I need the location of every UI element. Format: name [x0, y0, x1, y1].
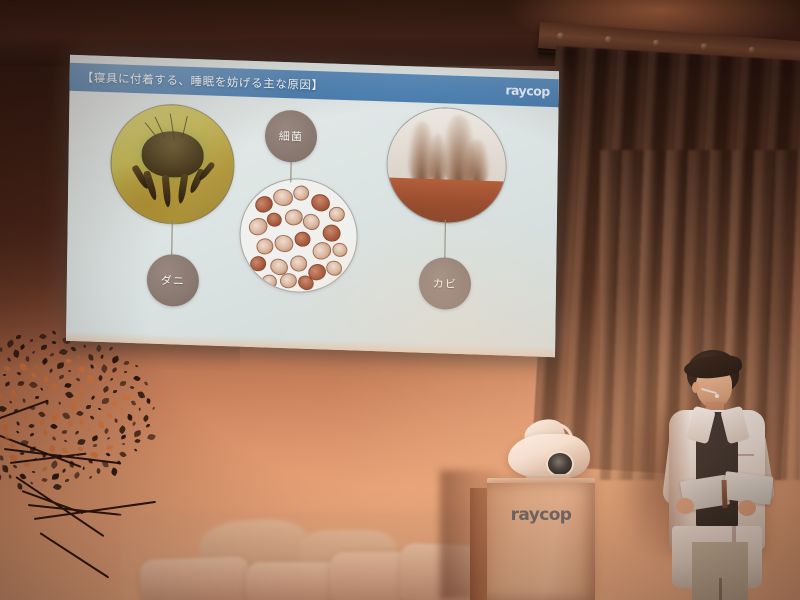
- plant-leaf: [74, 430, 79, 434]
- bacteria-cell: [272, 188, 294, 208]
- plant-leaf: [86, 404, 91, 408]
- plant-leaf: [12, 350, 20, 359]
- plant-leaf: [25, 356, 31, 362]
- plant-leaf: [123, 371, 126, 374]
- plant-leaf: [35, 364, 38, 368]
- plant-leaf: [77, 438, 85, 445]
- plant-leaf: [65, 479, 69, 482]
- plant-leaf: [90, 395, 95, 400]
- plant-leaf: [76, 377, 81, 382]
- plant-leaf: [9, 389, 18, 398]
- bacteria-cell: [294, 231, 311, 247]
- plant-leaf: [69, 402, 78, 410]
- presenter-hand-right: [738, 500, 756, 516]
- plant-branch: [39, 532, 109, 578]
- plant-leaf: [64, 439, 68, 443]
- plant-leaf: [17, 380, 24, 386]
- plant-leaf: [77, 355, 81, 359]
- pillow: [139, 556, 250, 600]
- raycop-logo-podium: raycop: [487, 505, 595, 525]
- plant-leaf: [147, 433, 156, 441]
- plant-leaf: [53, 483, 62, 492]
- plant-leaf: [0, 405, 7, 414]
- plant-leaf: [135, 439, 141, 445]
- plant-leaf: [42, 467, 47, 471]
- plant-leaf: [24, 461, 32, 468]
- raycop-logo-slide: raycop: [505, 82, 550, 98]
- plant-leaf: [0, 474, 3, 483]
- plant-leaf: [20, 472, 27, 480]
- plant-leaf: [50, 353, 54, 356]
- plant-leaf: [30, 433, 34, 437]
- plant-leaf: [68, 369, 72, 372]
- plant-leaf: [99, 421, 106, 429]
- bacteria-cell: [291, 184, 310, 202]
- plant-leaf: [48, 368, 53, 373]
- plant-leaf: [61, 468, 66, 473]
- plant-leaf: [52, 330, 57, 335]
- plant-leaf: [77, 395, 84, 403]
- plant-leaf: [17, 371, 22, 376]
- plant-leaf: [144, 381, 148, 386]
- plant-leaf: [51, 414, 60, 422]
- mite-hair: [145, 122, 157, 137]
- plant-leaf: [110, 467, 118, 476]
- plant-leaf: [118, 425, 127, 434]
- plant-leaf: [124, 360, 130, 365]
- bacteria-cell: [309, 239, 334, 263]
- plant-leaf: [50, 460, 59, 469]
- plant-leaf: [28, 423, 34, 429]
- plant-leaf: [56, 363, 64, 369]
- plant-leaf: [13, 464, 18, 469]
- plant-leaf: [113, 390, 117, 394]
- plant-leaf: [8, 475, 12, 479]
- plant-leaf: [102, 386, 110, 393]
- plant-leaf: [64, 382, 71, 389]
- mite-leg: [177, 173, 189, 204]
- plant-leaf: [80, 387, 84, 392]
- plant-leaf: [22, 399, 26, 403]
- plant-leaf: [65, 391, 74, 400]
- plant-leaf: [127, 413, 133, 420]
- plant-leaf: [114, 419, 118, 424]
- plant-leaf: [41, 357, 49, 364]
- plant-leaf: [135, 365, 139, 369]
- plant-leaf: [30, 481, 33, 485]
- presenter-hand-left: [676, 498, 694, 514]
- plant-leaf: [102, 460, 108, 468]
- plant-leaf: [41, 345, 47, 350]
- plant-leaf: [62, 429, 68, 434]
- label-saikin: 細菌: [279, 128, 304, 145]
- plant-leaf: [105, 452, 110, 457]
- plant-leaf: [44, 408, 47, 410]
- presenter-ear: [692, 382, 699, 393]
- projection-screen: 【寝具に付着する、睡眠を妨げる主な原因】 raycop: [60, 55, 560, 355]
- plant-leaf: [58, 401, 61, 404]
- mold-photo: [386, 105, 508, 225]
- plant-leaf: [98, 407, 102, 411]
- podium-logo-text: raycop: [511, 505, 572, 525]
- plant-leaf: [66, 420, 73, 428]
- raycop-device: [500, 420, 598, 482]
- plant-leaf: [2, 423, 10, 432]
- plant-leaf: [40, 388, 43, 392]
- plant-leaf: [121, 443, 125, 446]
- slide-title: 【寝具に付着する、睡眠を妨げる主な原因】: [70, 69, 324, 94]
- plant-leaf: [16, 335, 21, 339]
- plant-leaf: [88, 459, 93, 465]
- plant-leaf: [17, 483, 23, 490]
- plant-leaf: [20, 363, 27, 371]
- plant-leaf: [52, 436, 56, 441]
- plant-leaf: [2, 465, 8, 472]
- plant-leaf: [42, 376, 48, 383]
- plant-leaf: [62, 447, 68, 454]
- plant-leaf: [39, 419, 47, 427]
- plant-leaf: [111, 356, 120, 364]
- plant-leaf: [90, 415, 95, 420]
- plant-leaf: [103, 428, 109, 434]
- presentation-photo: 【寝具に付着する、睡眠を妨げる主な原因】 raycop: [0, 0, 800, 600]
- plant-leaf: [77, 446, 83, 452]
- plant-leaf: [117, 460, 120, 464]
- presenter: [646, 350, 796, 600]
- plant-leaf: [3, 365, 11, 373]
- bacteria-cell: [265, 211, 283, 228]
- bacteria-cell: [322, 224, 341, 242]
- bacteria-cell: [272, 232, 295, 254]
- plant-leaf: [131, 400, 136, 406]
- plant-leaf: [31, 470, 35, 474]
- plant-leaf: [41, 477, 47, 483]
- plant-leaf: [120, 381, 127, 387]
- plant-leaf: [134, 430, 142, 437]
- plant-leaf: [43, 430, 48, 436]
- plant-leaf: [2, 374, 6, 377]
- document-spine: [722, 480, 728, 508]
- plant-leaf: [45, 400, 49, 405]
- plant-leaf: [48, 444, 56, 452]
- plant-leaf: [66, 358, 72, 364]
- plant-leaf: [138, 391, 145, 399]
- plant-leaf: [102, 398, 109, 404]
- plant-leaf: [137, 407, 140, 411]
- plant-leaf: [112, 401, 118, 407]
- plant-leaf: [91, 450, 100, 459]
- plant-leaf: [91, 435, 98, 441]
- plant-leaf: [52, 474, 59, 480]
- plant-leaf: [74, 472, 82, 479]
- plant-leaf: [76, 409, 84, 416]
- bacteria-cell: [331, 242, 348, 258]
- plant-leaf: [129, 385, 134, 390]
- headset-mic-tip: [715, 394, 719, 398]
- plant-leaf: [134, 448, 138, 452]
- plant-leaf: [120, 407, 123, 411]
- plant-leaf: [5, 415, 9, 419]
- plant-leaf: [122, 393, 131, 402]
- plant-leaf: [119, 450, 126, 458]
- plant-leaf: [51, 423, 59, 431]
- plant-leaf: [9, 400, 12, 404]
- plant-leaf: [4, 434, 9, 440]
- label-dani: ダニ: [161, 272, 186, 289]
- bacteria-cell: [249, 255, 268, 273]
- plant-leaf: [100, 354, 105, 359]
- plant-leaf: [32, 350, 36, 354]
- plant-leaf: [22, 390, 26, 393]
- plant-leaf: [69, 461, 76, 468]
- plant-leaf: [79, 420, 84, 425]
- coat-pocket: [738, 454, 754, 456]
- plant-leaf: [35, 395, 40, 399]
- plant-leaf: [38, 410, 45, 418]
- plant-leaf: [87, 427, 91, 431]
- plant-leaf: [78, 365, 85, 373]
- plant-leaf: [0, 347, 3, 352]
- plant-leaf: [107, 444, 114, 450]
- plant-leaf: [50, 382, 59, 391]
- bacteria-cell: [300, 211, 322, 233]
- plant-leaf: [31, 372, 36, 378]
- bacteria-cell: [284, 208, 305, 227]
- podium: [487, 483, 595, 600]
- plant-leaf: [82, 466, 85, 470]
- plant-leaf: [30, 339, 33, 341]
- plant-leaf: [0, 393, 4, 400]
- label-kabi: カビ: [433, 275, 458, 292]
- plant-leaf: [15, 430, 19, 434]
- pillow: [246, 562, 342, 600]
- plant-leaf: [96, 468, 102, 474]
- bacteria-cell: [325, 259, 344, 278]
- plant-leaf: [17, 422, 20, 426]
- plant-leaf: [107, 436, 111, 439]
- plant-leaf: [88, 375, 94, 382]
- plant-leaf: [29, 405, 35, 411]
- plant-leaf: [109, 377, 113, 380]
- plant-leaf: [89, 354, 94, 360]
- plant-leaf: [91, 385, 95, 389]
- plant-leaf: [19, 344, 25, 350]
- plant-leaf: [146, 424, 150, 428]
- plant-leaf: [88, 476, 92, 480]
- plant-leaf: [133, 375, 141, 383]
- plant-leaf: [146, 398, 151, 404]
- plant-leaf: [0, 455, 3, 460]
- mite-leg: [162, 175, 172, 207]
- plant-leaf: [92, 443, 97, 447]
- plant-leaf: [0, 445, 2, 448]
- plant-leaf: [7, 358, 11, 362]
- bacteria-cell: [290, 255, 307, 271]
- bacteria-cell: [279, 272, 298, 289]
- bacteria-cell: [261, 274, 277, 289]
- plant-leaf: [59, 375, 65, 380]
- plant-leaf: [107, 412, 114, 419]
- slide-logo-text: raycop: [505, 82, 550, 98]
- plant-leaf: [53, 393, 56, 396]
- plant-leaf: [23, 413, 29, 419]
- plant-leaf: [51, 340, 56, 345]
- bacteria-cell: [254, 236, 275, 256]
- plant-leaf: [29, 381, 38, 390]
- plant-leaf: [98, 375, 104, 381]
- plant-leaf: [4, 382, 10, 387]
- plant-leaf: [142, 414, 150, 422]
- pants-seam: [719, 578, 722, 600]
- plant-leaf: [112, 367, 118, 373]
- plant-leaf: [90, 365, 93, 369]
- plant-leaf: [152, 407, 156, 411]
- plant-leaf: [37, 440, 41, 444]
- plant-leaf: [40, 333, 48, 340]
- bacteria-cell: [329, 207, 345, 222]
- plant-leaf: [100, 364, 109, 373]
- plant-leaf: [121, 434, 127, 439]
- plant-leaf: [131, 421, 136, 426]
- plant-leaf: [6, 340, 15, 348]
